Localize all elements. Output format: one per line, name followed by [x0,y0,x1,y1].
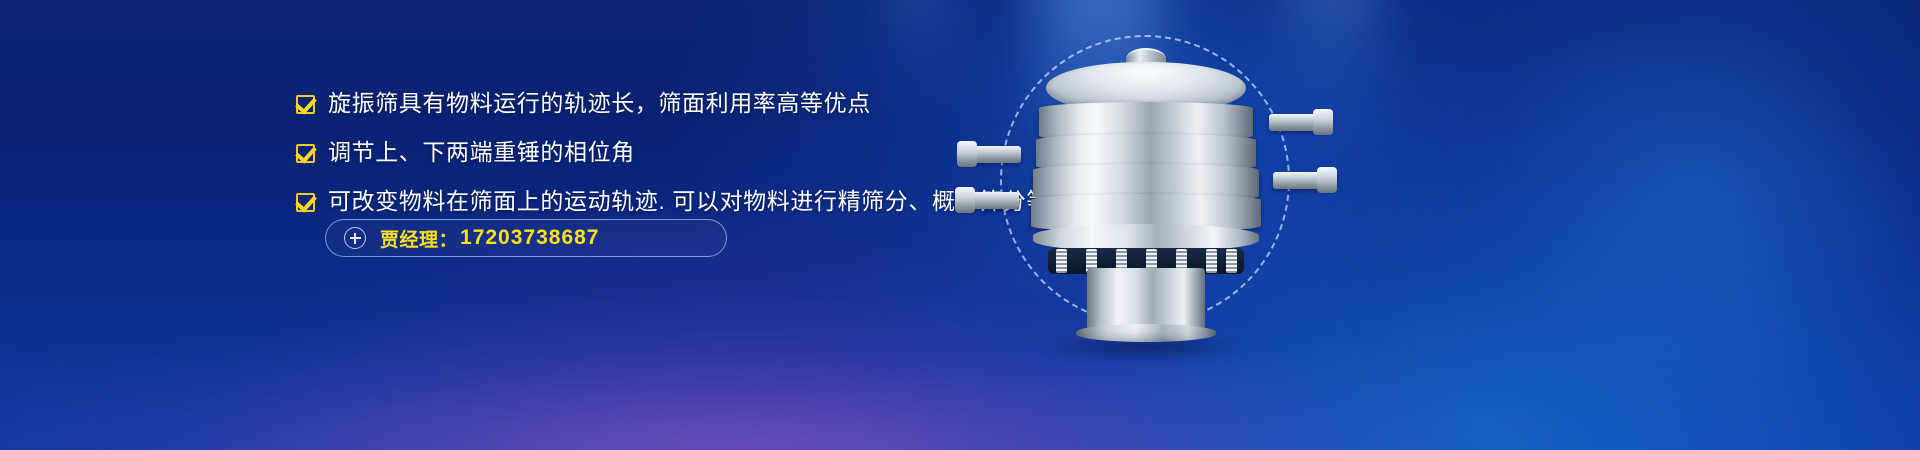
aurora-arc-magenta [0,235,1920,450]
check-box-icon [296,193,315,212]
handle-knob [957,141,977,167]
check-box-icon [296,144,315,163]
list-item: 旋振筛具有物料运行的轨迹长，筛面利用率高等优点 [296,88,1056,119]
spring [1226,249,1237,273]
contact-button[interactable]: 贾经理： 17203738687 [325,219,727,257]
handle-knob [955,187,975,213]
bottom-color-haze [0,270,1920,450]
list-item: 可改变物料在筛面上的运动轨迹. 可以对物料进行精筛分、概率筛分等 [296,186,1056,217]
contact-phone-number: 17203738687 [460,226,599,250]
aurora-arc-pink-haze [0,330,1920,450]
sieve-handle-right-upper [1269,114,1331,131]
spring [1056,249,1067,273]
handle-knob [1317,167,1337,193]
rotary-vibrating-sieve-machine [1007,62,1285,314]
product-promo-banner: 旋振筛具有物料运行的轨迹长，筛面利用率高等优点 调节上、下两端重锤的相位角 可改… [0,0,1920,450]
spring [1206,249,1217,273]
light-ray-right [1290,0,1380,180]
machine-shadow [1041,334,1251,360]
sieve-handle-left-upper [959,146,1021,163]
handle-knob [1313,109,1333,135]
feature-text: 可改变物料在筛面上的运动轨迹. 可以对物料进行精筛分、概率筛分等 [328,186,1050,217]
check-box-icon [296,95,315,114]
sieve-handle-right-lower [1273,172,1335,189]
aurora-arc-teal-glow [0,322,1920,450]
plus-circle-icon [344,227,366,249]
list-item: 调节上、下两端重锤的相位角 [296,137,1056,168]
corner-glow [1320,0,1920,450]
feature-text: 调节上、下两端重锤的相位角 [328,137,635,168]
feature-text: 旋振筛具有物料运行的轨迹长，筛面利用率高等优点 [328,88,871,119]
sieve-handle-left-lower [957,192,1019,209]
feature-list: 旋振筛具有物料运行的轨迹长，筛面利用率高等优点 调节上、下两端重锤的相位角 可改… [296,88,1056,235]
aurora-arc-magenta-glow [0,262,1920,450]
aurora-arc-teal [0,300,1920,450]
contact-name-label: 贾经理： [380,225,458,252]
